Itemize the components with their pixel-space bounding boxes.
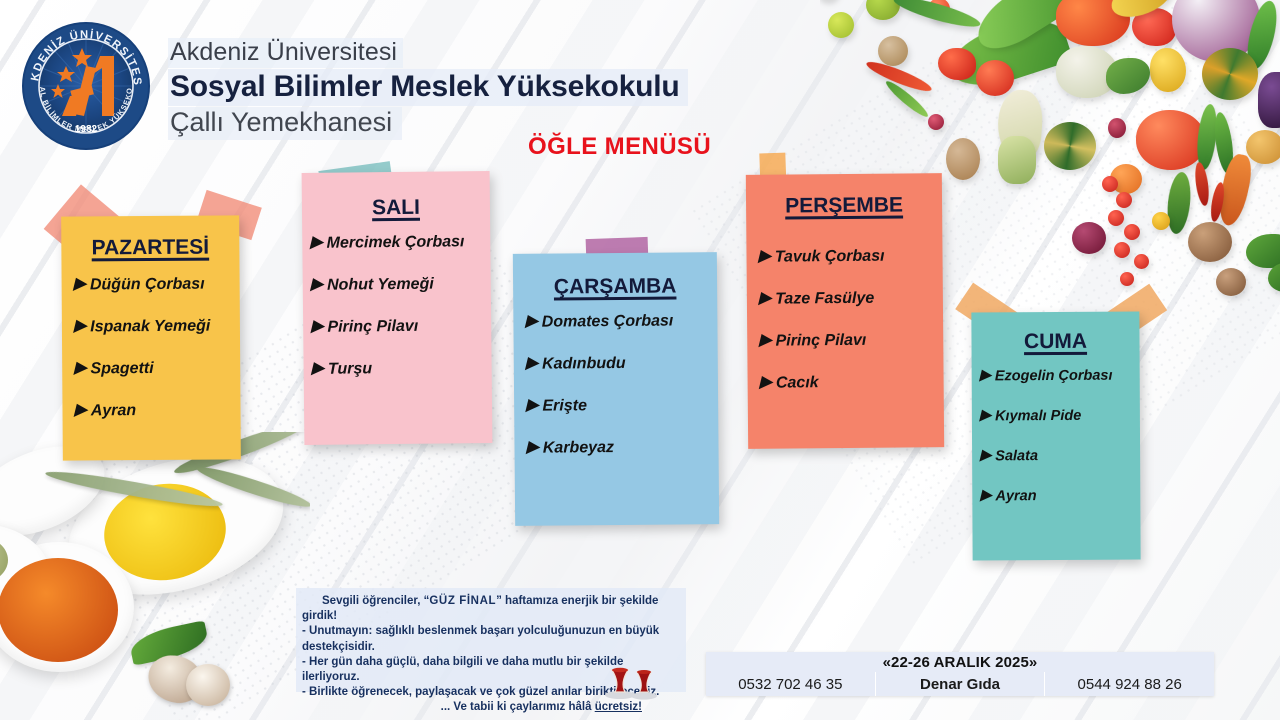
menu-item-label: Mercimek Çorbası	[327, 233, 465, 252]
school-name: Sosyal Bilimler Meslek Yüksekokulu	[168, 69, 688, 106]
menu-item-label: Kadınbudu	[542, 355, 626, 374]
menu-item-label: Pirinç Pilavı	[327, 318, 418, 337]
note-line-2: - Unutmayın: sağlıklı beslenmek başarı y…	[296, 624, 686, 654]
day-card-tuesday[interactable]: SALI ▶ Mercimek Çorbası ▶ Nohut Yemeği ▶…	[302, 171, 493, 445]
day-card-tuesday-title: SALI	[302, 171, 490, 221]
header-text-block: Akdeniz Üniversitesi Sosyal Bilimler Mes…	[168, 38, 788, 140]
menu-item: ▶ Spagetti	[74, 359, 232, 378]
menu-item: ▶ Ispanak Yemeği	[74, 317, 232, 336]
menu-item-label: Düğün Çorbası	[90, 276, 205, 295]
menu-item: ▶ Düğün Çorbası	[74, 275, 232, 294]
menu-item: ▶ Domates Çorbası	[525, 312, 711, 332]
day-card-wednesday[interactable]: ÇARŞAMBA ▶ Domates Çorbası ▶ Kadınbudu ▶…	[513, 252, 719, 526]
day-card-monday[interactable]: PAZARTESİ ▶ Düğün Çorbası ▶ Ispanak Yeme…	[61, 215, 241, 460]
bullet-arrow-icon: ▶	[74, 276, 86, 292]
catering-company-name: Denar Gıda	[876, 672, 1046, 696]
menu-item-label: Domates Çorbası	[542, 312, 674, 331]
bullet-arrow-icon: ▶	[759, 333, 771, 349]
menu-item-label: Spagetti	[90, 360, 153, 378]
note-line-5a: ... Ve tabii ki çaylarımız hâlâ	[441, 701, 595, 713]
turkish-tea-glasses-icon	[604, 662, 660, 700]
menu-item: ▶ Karbeyaz	[526, 438, 712, 458]
bullet-arrow-icon: ▶	[980, 368, 991, 383]
page-title: ÖĞLE MENÜSÜ	[528, 133, 711, 161]
menu-item-label: Ayran	[91, 402, 136, 420]
day-card-thursday-title: PERŞEMBE	[746, 173, 942, 219]
spices-image	[0, 432, 310, 720]
menu-item: ▶ Ezogelin Çorbası	[980, 368, 1136, 385]
day-card-friday[interactable]: CUMA ▶ Ezogelin Çorbası ▶ Kıymalı Pide ▶…	[971, 312, 1140, 561]
menu-item-label: Ayran	[995, 488, 1036, 504]
university-name: Akdeniz Üniversitesi	[168, 38, 403, 68]
menu-item-label: Salata	[995, 448, 1038, 464]
menu-item-label: Erişte	[542, 397, 587, 415]
menu-item: ▶ Cacık	[760, 373, 938, 393]
menu-item: ▶ Turşu	[312, 359, 486, 379]
bullet-arrow-icon: ▶	[980, 488, 991, 503]
bullet-arrow-icon: ▶	[760, 375, 772, 391]
bullet-arrow-icon: ▶	[526, 398, 538, 414]
bullet-arrow-icon: ▶	[525, 314, 537, 330]
bullet-arrow-icon: ▶	[74, 360, 86, 376]
menu-item-label: Turşu	[328, 360, 372, 378]
menu-item: ▶ Pirinç Pilavı	[311, 317, 485, 337]
poster-canvas: AKDENİZ ÜNİVERSİTESİ SOSYAL BİLİMLER MES…	[0, 0, 1280, 720]
menu-item-label: Ispanak Yemeği	[90, 318, 210, 337]
menu-item-label: Ezogelin Çorbası	[995, 368, 1113, 385]
menu-item: ▶ Salata	[980, 448, 1136, 465]
bullet-arrow-icon: ▶	[310, 235, 322, 251]
menu-item-label: Cacık	[776, 374, 819, 392]
bullet-arrow-icon: ▶	[758, 249, 770, 265]
day-card-monday-title: PAZARTESİ	[61, 215, 239, 260]
phone-left[interactable]: 0532 702 46 35	[706, 672, 876, 696]
menu-item-label: Nohut Yemeği	[327, 276, 434, 295]
day-card-friday-title: CUMA	[971, 312, 1139, 355]
logo-year-text: 1982	[75, 124, 98, 135]
day-card-wednesday-title: ÇARŞAMBA	[513, 252, 717, 300]
menu-date-range: «22-26 ARALIK 2025»	[706, 652, 1214, 672]
note-free-tea-emphasis: ücretsiz!	[595, 701, 642, 713]
menu-item: ▶ Nohut Yemeği	[311, 275, 485, 295]
menu-item: ▶ Taze Fasülye	[759, 289, 937, 309]
menu-item-label: Taze Fasülye	[775, 290, 874, 309]
menu-item: ▶ Pirinç Pilavı	[759, 331, 937, 351]
bullet-arrow-icon: ▶	[980, 448, 991, 463]
bullet-arrow-icon: ▶	[526, 440, 538, 456]
bullet-arrow-icon: ▶	[759, 291, 771, 307]
menu-item-label: Karbeyaz	[543, 439, 614, 458]
bullet-arrow-icon: ▶	[74, 318, 86, 334]
menu-item: ▶ Erişte	[526, 396, 712, 416]
menu-item: ▶ Ayran	[74, 401, 232, 420]
menu-item: ▶ Ayran	[980, 488, 1136, 505]
day-card-thursday[interactable]: PERŞEMBE ▶ Tavuk Çorbası ▶ Taze Fasülye …	[746, 173, 944, 449]
canteen-name: Çallı Yemekhanesi	[168, 107, 402, 140]
menu-item-label: Pirinç Pilavı	[775, 332, 866, 351]
note-line-1: Sevgili öğrenciler, “GÜZ FİNAL” haftamız…	[296, 588, 686, 624]
menu-item-label: Tavuk Çorbası	[775, 248, 885, 267]
bullet-arrow-icon: ▶	[980, 408, 991, 423]
bullet-arrow-icon: ▶	[526, 356, 538, 372]
note-line-1a: Sevgili öğrenciler, “	[322, 595, 429, 607]
bullet-arrow-icon: ▶	[311, 319, 323, 335]
phone-right[interactable]: 0544 924 88 26	[1045, 672, 1214, 696]
university-logo: AKDENİZ ÜNİVERSİTESİ SOSYAL BİLİMLER MES…	[22, 22, 150, 150]
menu-item: ▶ Kadınbudu	[526, 354, 712, 374]
contact-bar: «22-26 ARALIK 2025» 0532 702 46 35 Denar…	[706, 652, 1214, 696]
note-line-5: ... Ve tabii ki çaylarımız hâlâ ücretsiz…	[296, 700, 686, 715]
menu-item: ▶ Kıymalı Pide	[980, 408, 1136, 425]
bullet-arrow-icon: ▶	[311, 277, 323, 293]
note-highlight-guz-final: GÜZ FİNAL	[429, 595, 496, 607]
menu-item: ▶ Tavuk Çorbası	[758, 247, 936, 267]
menu-item-label: Kıymalı Pide	[995, 408, 1081, 424]
menu-item: ▶ Mercimek Çorbası	[310, 233, 484, 253]
bullet-arrow-icon: ▶	[74, 402, 86, 418]
bullet-arrow-icon: ▶	[312, 361, 324, 377]
